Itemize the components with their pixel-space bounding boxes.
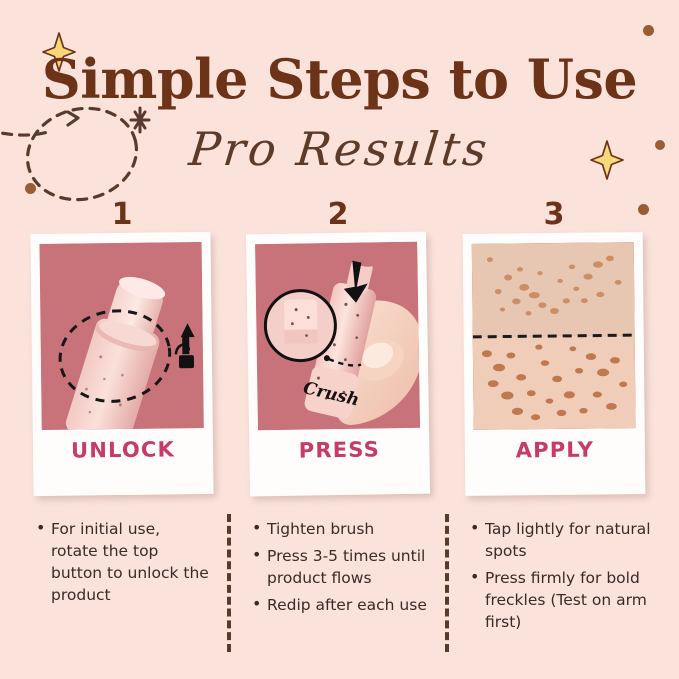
- accent-dot-top-right: [643, 25, 654, 36]
- step-card-press: Crush: [246, 232, 430, 497]
- list-item: Press firmly for bold freckles (Test on …: [470, 567, 660, 633]
- list-item: Press 3-5 times until product flows: [252, 545, 432, 589]
- column-divider-1: [227, 514, 231, 652]
- column-divider-2: [445, 514, 449, 652]
- bullet-list-press: Tighten brush Press 3-5 times until prod…: [252, 518, 432, 621]
- step-number-1: 1: [92, 200, 152, 230]
- step-caption-unlock: UNLOCK: [33, 437, 213, 463]
- accent-dot-left: [25, 183, 36, 194]
- freckle-result-skin-photo: [472, 242, 636, 430]
- list-item: For initial use, rotate the top button t…: [36, 518, 211, 606]
- step-card-apply: APPLY: [463, 232, 646, 496]
- infographic-page: Simple Steps to Use Pro Results 1 2 3: [0, 0, 679, 679]
- bullet-list-apply: Tap lightly for natural spots Press firm…: [470, 518, 660, 638]
- step-number-3: 3: [524, 200, 584, 230]
- accent-dot-lower-right: [638, 204, 649, 215]
- list-item: Tighten brush: [252, 518, 432, 540]
- list-item: Redip after each use: [252, 594, 432, 616]
- step-card-unlock: UNLOCK: [30, 232, 213, 496]
- list-item: Tap lightly for natural spots: [470, 518, 660, 562]
- page-subtitle: Pro Results: [0, 126, 679, 172]
- step-number-2: 2: [308, 200, 368, 230]
- page-title: Simple Steps to Use: [0, 52, 679, 106]
- step-caption-apply: APPLY: [465, 437, 645, 463]
- bullet-list-unlock: For initial use, rotate the top button t…: [36, 518, 211, 611]
- step-caption-press: PRESS: [249, 437, 429, 464]
- product-cap-rotate-photo: [40, 242, 204, 430]
- product-press-hand-photo: Crush: [255, 242, 420, 431]
